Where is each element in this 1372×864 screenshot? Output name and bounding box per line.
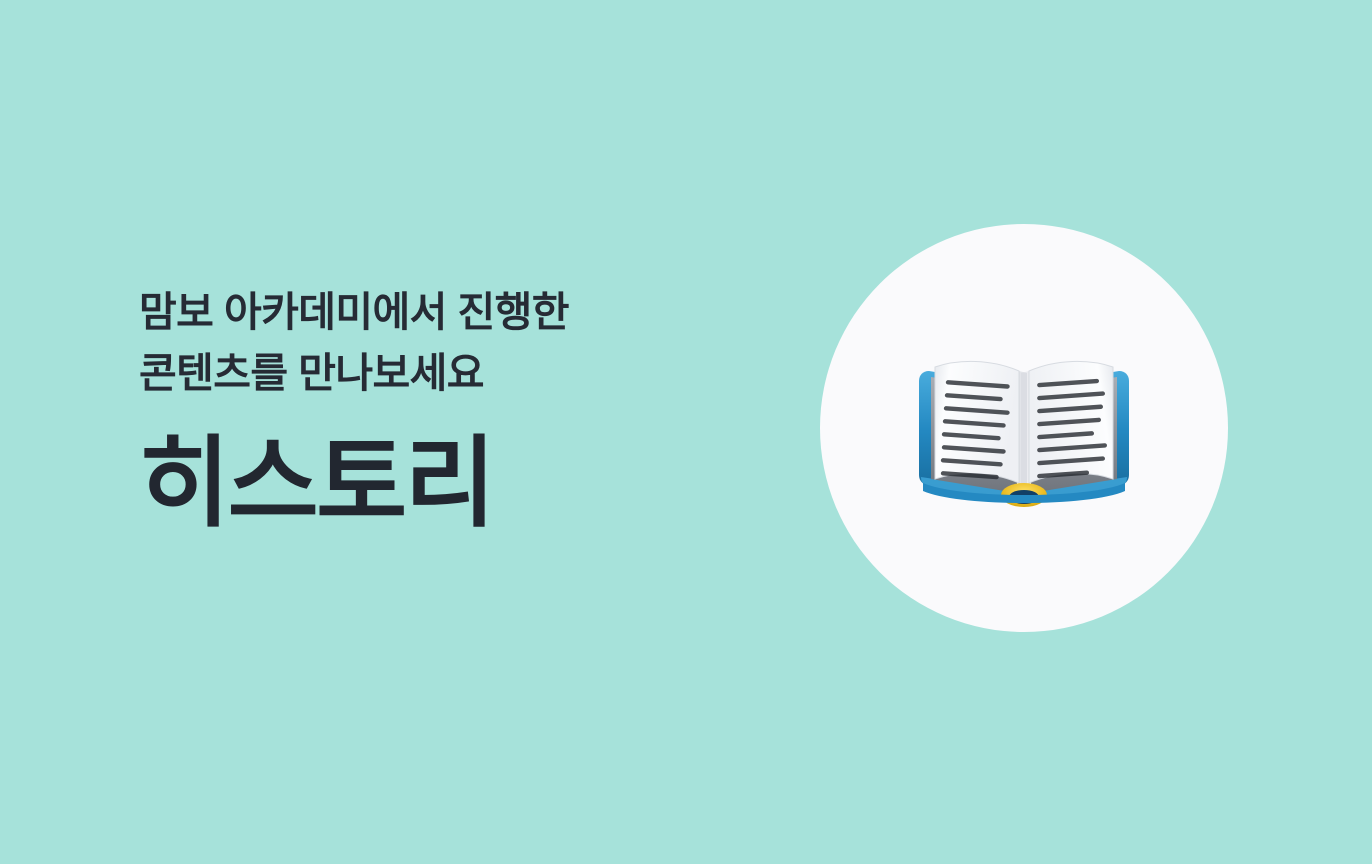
page-title: 히스토리 (139, 403, 759, 538)
hero-subtitle: 맘보 아카데미에서 진행한 콘텐츠를 만나보세요 (139, 282, 759, 403)
hero-copy-block: 맘보 아카데미에서 진행한 콘텐츠를 만나보세요 히스토리 (139, 282, 759, 538)
open-book-icon (909, 333, 1139, 523)
hero-illustration (820, 224, 1228, 632)
hero-banner: 맘보 아카데미에서 진행한 콘텐츠를 만나보세요 히스토리 (0, 0, 1372, 864)
